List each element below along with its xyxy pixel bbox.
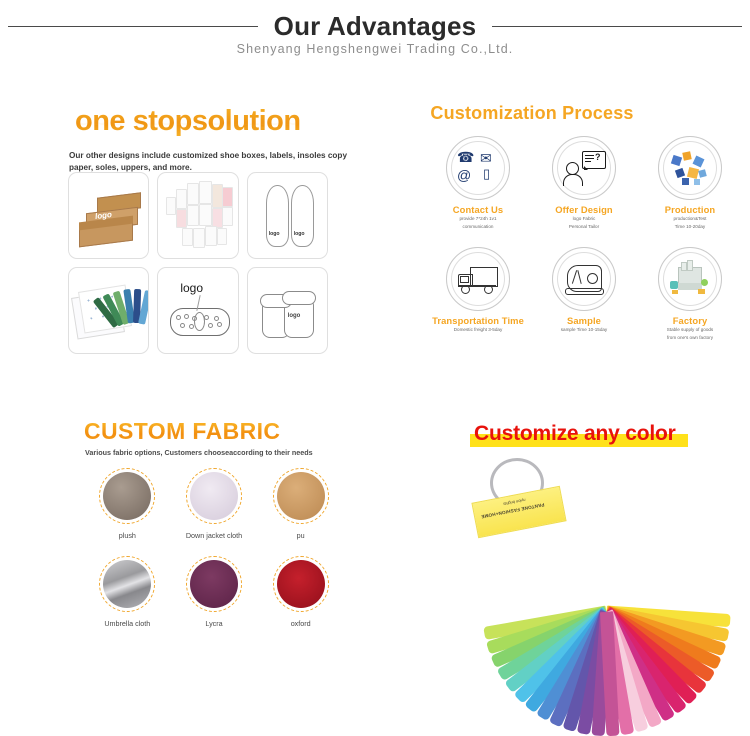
fabric-swatch-umbrella-cloth[interactable]: Umbrella cloth (84, 556, 171, 628)
boot-logo-text: logo (288, 313, 301, 319)
product-image-hang-tags (157, 172, 238, 259)
production-icon-circle (658, 136, 722, 200)
process-step-desc-1: provide 7*24h 1v1 (425, 216, 531, 223)
process-step-label: Sample (531, 315, 637, 326)
fabric-label: Lycra (171, 619, 258, 628)
process-row-2: Transportation Time Domestic freight 3-5… (425, 247, 745, 342)
process-step-desc-2: Time 10-20day (637, 224, 743, 231)
company-name: Shenyang Hengshengwei Trading Co.,Ltd. (0, 42, 750, 56)
hang-tag (222, 207, 233, 226)
one-stop-row-1: logo (68, 172, 328, 259)
process-step-transportation-time[interactable]: Transportation Time Domestic freight 3-5… (425, 247, 531, 342)
hang-tag (176, 189, 187, 209)
mobile-phone-icon: ▯ (483, 167, 490, 180)
one-stop-subtitle: Our other designs include customized sho… (69, 150, 359, 174)
process-step-desc-1: Stable supply of goods (637, 327, 743, 334)
process-step-label: Factory (637, 315, 743, 326)
truck-icon-circle (446, 247, 510, 311)
hang-tag (182, 228, 193, 246)
swatch-color (277, 560, 325, 608)
swatch-ring (186, 556, 242, 612)
swatch-color (190, 472, 238, 520)
fabric-row-1: plush Down jacket cloth pu (84, 468, 344, 540)
process-step-label: Production (637, 204, 743, 215)
truck-icon (456, 259, 500, 299)
process-step-production[interactable]: Production production&Test Time 10-20day (637, 136, 743, 231)
page-title: Our Advantages (274, 11, 477, 42)
process-step-label: Offer Design (531, 204, 637, 215)
process-row-1: ☎ ✉ @ ▯ Contact Us provide 7*24h 1v1 com… (425, 136, 745, 231)
process-step-label: Transportation Time (425, 315, 531, 326)
designer-icon-circle: ? (552, 136, 616, 200)
one-stop-row-2: logo logo (68, 267, 328, 354)
factory-icon-circle (658, 247, 722, 311)
fabric-row-2: Umbrella cloth Lycra oxford (84, 556, 344, 628)
fabric-label: pu (257, 531, 344, 540)
fabric-label: oxford (257, 619, 344, 628)
insole-right (291, 185, 314, 247)
fabric-swatch-plush[interactable]: plush (84, 468, 171, 540)
one-stop-image-grid: logo (68, 172, 328, 362)
process-step-desc-1: logo Fabric (531, 216, 637, 223)
header-title-row: Our Advantages (0, 8, 750, 44)
page-header: Our Advantages Shenyang Hengshengwei Tra… (0, 0, 750, 86)
fabric-swatch-grid: plush Down jacket cloth pu Umbrella (84, 468, 344, 628)
header-rule-right (492, 26, 742, 27)
process-step-desc-2: Personal Tailor (531, 224, 637, 231)
swatch-ring (273, 556, 329, 612)
hang-tag (199, 204, 212, 226)
at-sign-icon: @ (457, 168, 471, 182)
process-step-desc-1: sample Time 10-15day (531, 327, 637, 334)
hang-tag (199, 181, 212, 204)
swatch-color (190, 560, 238, 608)
swatch-ring (99, 556, 155, 612)
advantages-page: Our Advantages Shenyang Hengshengwei Tra… (0, 0, 750, 678)
color-title: Customize any color (474, 422, 676, 446)
product-image-boots: logo (247, 267, 328, 354)
product-image-shoe-boxes: logo (68, 172, 149, 259)
production-icon (668, 148, 712, 188)
process-step-desc-2: from one's own factory (637, 335, 743, 342)
hang-tag (205, 226, 217, 246)
process-step-factory[interactable]: Factory Stable supply of goods from one'… (637, 247, 743, 342)
process-step-offer-design[interactable]: ? Offer Design logo Fabric Personal Tail… (531, 136, 637, 231)
envelope-icon: ✉ (480, 151, 492, 165)
fabric-swatch-down-jacket-cloth[interactable]: Down jacket cloth (171, 468, 258, 540)
header-rule-left (8, 26, 258, 27)
fabric-swatch-oxford[interactable]: oxford (257, 556, 344, 628)
boot-icon (562, 259, 606, 299)
hang-tag (187, 205, 199, 226)
process-step-desc-2: communication (425, 224, 531, 231)
fabric-swatch-lycra[interactable]: Lycra (171, 556, 258, 628)
boot-icon-circle (552, 247, 616, 311)
process-step-desc-1: production&Test (637, 216, 743, 223)
swatch-ring (273, 468, 329, 524)
process-title-wrap: Customization Process (0, 103, 750, 124)
process-step-sample[interactable]: Sample sample Time 10-15day (531, 247, 637, 342)
sole-logo-text: logo (180, 281, 203, 295)
designer-icon: ? (562, 148, 606, 188)
process-step-label: Contact Us (425, 204, 531, 215)
insole-right-logo: logo (294, 231, 305, 237)
product-image-sole: logo (157, 267, 238, 354)
process-title: Customization Process (430, 103, 633, 123)
process-step-contact-us[interactable]: ☎ ✉ @ ▯ Contact Us provide 7*24h 1v1 com… (425, 136, 531, 231)
hang-tag (176, 209, 187, 228)
fabric-subtitle: Various fabric options, Customers choose… (85, 448, 313, 457)
swatch-color (277, 472, 325, 520)
insole-left-logo: logo (269, 231, 280, 237)
swatch-color (103, 560, 151, 608)
contact-icons-circle: ☎ ✉ @ ▯ (446, 136, 510, 200)
hang-tag (166, 197, 176, 215)
factory-icon (668, 259, 712, 299)
phone-icon: ☎ (457, 150, 474, 164)
fabric-swatch-pu[interactable]: pu (257, 468, 344, 540)
boot-right-fur-cuff (282, 291, 316, 305)
product-image-insoles: logo logo (247, 172, 328, 259)
hang-tag (217, 228, 227, 245)
hang-tag (187, 183, 199, 205)
pantone-fan-deck (111, 286, 149, 336)
insole-left (266, 185, 289, 247)
hang-tag (193, 228, 205, 248)
hang-tag-collage (164, 179, 233, 252)
hang-tag (222, 187, 233, 207)
swatch-ring (186, 468, 242, 524)
product-image-copy-paper (68, 267, 149, 354)
contact-icons: ☎ ✉ @ ▯ (456, 148, 500, 188)
process-step-desc-1: Domestic freight 3-5day (425, 327, 531, 334)
fabric-title: CUSTOM FABRIC (84, 418, 280, 445)
fabric-label: Umbrella cloth (84, 619, 171, 628)
fabric-label: Down jacket cloth (171, 531, 258, 540)
swatch-color (103, 472, 151, 520)
process-grid: ☎ ✉ @ ▯ Contact Us provide 7*24h 1v1 com… (425, 136, 745, 342)
swatch-ring (99, 468, 155, 524)
fabric-label: plush (84, 531, 171, 540)
